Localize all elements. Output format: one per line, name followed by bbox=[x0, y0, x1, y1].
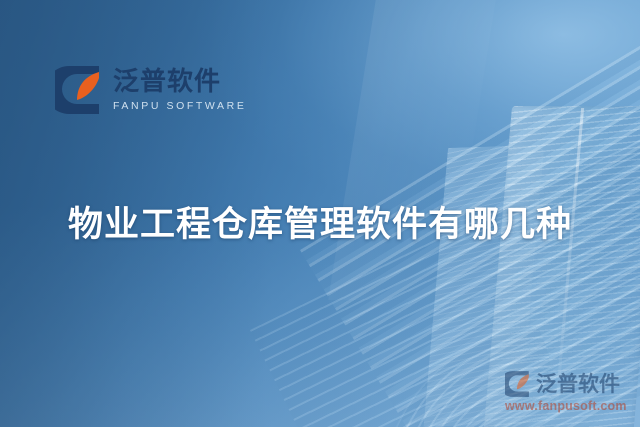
watermark: 泛普软件 www.fanpusoft.com bbox=[505, 370, 637, 413]
fanpu-hexagon-logo-icon bbox=[55, 64, 103, 116]
brand-name-cn: 泛普软件 bbox=[113, 68, 246, 97]
fanpu-hexagon-logo-watermark-icon bbox=[505, 370, 531, 398]
watermark-url: www.fanpusoft.com bbox=[505, 400, 637, 413]
watermark-brand-cn: 泛普软件 bbox=[536, 374, 620, 395]
brand-text-block: 泛普软件 FANPU SOFTWARE bbox=[113, 68, 246, 111]
watermark-logo-row: 泛普软件 bbox=[505, 370, 637, 398]
page-title: 物业工程仓库管理软件有哪几种 bbox=[0, 196, 640, 247]
brand-logo: 泛普软件 FANPU SOFTWARE bbox=[55, 64, 246, 116]
brand-name-en: FANPU SOFTWARE bbox=[113, 101, 246, 112]
promo-banner: 泛普软件 FANPU SOFTWARE 物业工程仓库管理软件有哪几种 泛普软件 … bbox=[0, 0, 640, 427]
